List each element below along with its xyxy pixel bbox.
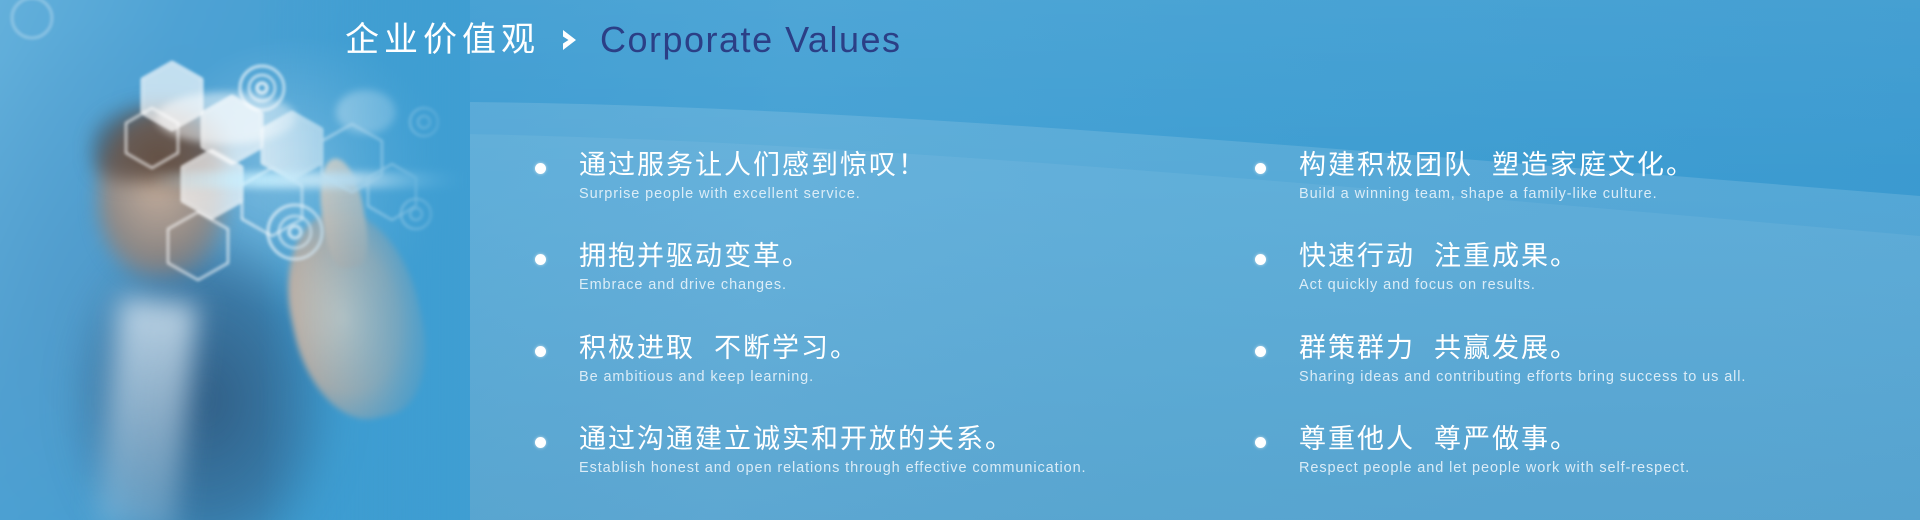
bullet-dot-icon [1255, 437, 1266, 448]
bullet-dot-icon [1255, 254, 1266, 265]
values-right-column: 构建积极团队 塑造家庭文化。 Build a winning team, sha… [1255, 150, 1915, 516]
value-chinese: 尊重他人 尊严做事。 [1299, 424, 1915, 455]
list-item-text: 尊重他人 尊严做事。 Respect people and let people… [1299, 424, 1915, 477]
list-item: 通过沟通建立诚实和开放的关系。 Establish honest and ope… [535, 424, 1255, 477]
list-item-text: 积极进取 不断学习。 Be ambitious and keep learnin… [579, 333, 1255, 386]
value-english: Surprise people with excellent service. [579, 186, 1255, 203]
value-english: Sharing ideas and contributing efforts b… [1299, 369, 1915, 386]
value-chinese: 通过服务让人们感到惊叹！ [579, 150, 1255, 181]
bullet-dot-icon [535, 254, 546, 265]
value-chinese: 群策群力 共赢发展。 [1299, 333, 1915, 364]
value-english: Respect people and let people work with … [1299, 460, 1915, 477]
bullet-dot-icon [535, 346, 546, 357]
values-columns: 通过服务让人们感到惊叹！ Surprise people with excell… [0, 0, 1920, 520]
value-english: Embrace and drive changes. [579, 277, 1255, 294]
value-chinese: 拥抱并驱动变革。 [579, 241, 1255, 272]
list-item-text: 构建积极团队 塑造家庭文化。 Build a winning team, sha… [1299, 150, 1915, 203]
value-chinese: 通过沟通建立诚实和开放的关系。 [579, 424, 1255, 455]
value-chinese: 积极进取 不断学习。 [579, 333, 1255, 364]
bullet-dot-icon [535, 163, 546, 174]
value-english: Act quickly and focus on results. [1299, 277, 1915, 294]
values-left-column: 通过服务让人们感到惊叹！ Surprise people with excell… [535, 150, 1255, 516]
list-item: 构建积极团队 塑造家庭文化。 Build a winning team, sha… [1255, 150, 1915, 203]
corporate-values-banner: 企业价值观 Corporate Values 通过服务让人们感到惊叹！ Surp… [0, 0, 1920, 520]
list-item: 拥抱并驱动变革。 Embrace and drive changes. [535, 241, 1255, 294]
bullet-dot-icon [535, 437, 546, 448]
bullet-dot-icon [1255, 346, 1266, 357]
list-item: 群策群力 共赢发展。 Sharing ideas and contributin… [1255, 333, 1915, 386]
list-item-text: 通过服务让人们感到惊叹！ Surprise people with excell… [579, 150, 1255, 203]
list-item: 尊重他人 尊严做事。 Respect people and let people… [1255, 424, 1915, 477]
list-item: 快速行动 注重成果。 Act quickly and focus on resu… [1255, 241, 1915, 294]
list-item: 积极进取 不断学习。 Be ambitious and keep learnin… [535, 333, 1255, 386]
value-english: Be ambitious and keep learning. [579, 369, 1255, 386]
bullet-dot-icon [1255, 163, 1266, 174]
value-english: Build a winning team, shape a family-lik… [1299, 186, 1915, 203]
value-english: Establish honest and open relations thro… [579, 460, 1255, 477]
list-item-text: 通过沟通建立诚实和开放的关系。 Establish honest and ope… [579, 424, 1255, 477]
list-item: 通过服务让人们感到惊叹！ Surprise people with excell… [535, 150, 1255, 203]
list-item-text: 拥抱并驱动变革。 Embrace and drive changes. [579, 241, 1255, 294]
value-chinese: 构建积极团队 塑造家庭文化。 [1299, 150, 1915, 181]
list-item-text: 快速行动 注重成果。 Act quickly and focus on resu… [1299, 241, 1915, 294]
list-item-text: 群策群力 共赢发展。 Sharing ideas and contributin… [1299, 333, 1915, 386]
value-chinese: 快速行动 注重成果。 [1299, 241, 1915, 272]
